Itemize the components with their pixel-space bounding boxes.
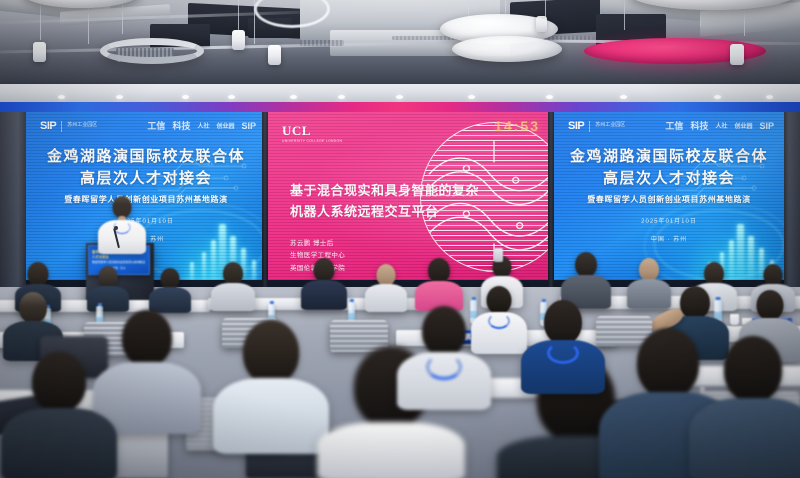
attendee-front-7 (520, 300, 606, 392)
sponsor-logo-0: 工信 (147, 119, 165, 132)
pendant-light-3 (452, 36, 562, 62)
sip-logo-right: SIP 苏州工业园区 (568, 120, 625, 132)
downlight-cylinder-3 (268, 45, 281, 65)
sip-logo-subtext-right: 苏州工业园区 (595, 123, 625, 129)
conference-room-scene: SIP 苏州工业园区 工信 科技 人社 创业园 SIP (0, 0, 800, 478)
attendee-front-9 (688, 336, 800, 478)
attendee-phone (494, 248, 503, 262)
sponsor-logo-r0: 工信 (665, 119, 683, 132)
attendee-back-3 (148, 268, 192, 310)
sponsor-logo-r2: 人社 (715, 121, 727, 130)
downlight-cylinder-2 (232, 30, 245, 50)
sip-logo-left: SIP 苏州工业园区 (40, 120, 97, 132)
sponsor-logos-left: 工信 科技 人社 创业园 SIP (147, 119, 256, 132)
downlight-cylinder-1 (33, 42, 46, 62)
sponsor-logo-r4: SIP (759, 121, 774, 131)
slide-title: 基于混合现实和具身智能的复杂 机器人系统远程交互平台 (290, 180, 520, 223)
attendee-back-7-pink (414, 258, 464, 310)
slide-title-line-1: 基于混合现实和具身智能的复杂 (290, 180, 520, 201)
attendee-back-2 (86, 266, 130, 310)
ucl-logo: UCL UNIVERSITY COLLEGE LONDON (282, 124, 342, 143)
right-wall-panel (784, 112, 800, 287)
attendee-back-4 (210, 262, 256, 308)
right-title-line-2: 高层次人才对接会 (554, 168, 784, 190)
attendee-back-6 (364, 264, 408, 310)
ceiling (0, 0, 800, 84)
ucl-logo-text: UCL (282, 124, 342, 137)
sponsor-logo-2: 人社 (197, 121, 209, 130)
center-presentation-screen: UCL UNIVERSITY COLLEGE LONDON 14:53 基于混合… (268, 112, 552, 280)
sip-logo-text-right: SIP (568, 120, 584, 132)
left-wall-panel (0, 112, 26, 287)
left-title-line-2: 高层次人才对接会 (26, 168, 266, 190)
speaker-head (113, 196, 132, 218)
attendee-front-8 (0, 352, 118, 478)
right-screen-title: 金鸡湖路演国际校友联合体 高层次人才对接会 (554, 146, 784, 190)
sponsor-logo-r1: 科技 (690, 119, 708, 132)
sponsor-logo-1: 科技 (172, 119, 190, 132)
left-title-line-1: 金鸡湖路演国际校友联合体 (26, 146, 266, 168)
presenter-name: 苏云鹏 博士后 (290, 238, 345, 250)
attendee-back-5 (300, 258, 348, 308)
attendee-front-6 (396, 306, 492, 406)
downlight-cylinder-5 (536, 16, 547, 32)
ceiling-soffit (0, 84, 800, 102)
slide-title-line-2: 机器人系统远程交互平台 (290, 201, 520, 222)
speaker-presenter (94, 196, 150, 252)
sponsor-logo-4: SIP (241, 121, 256, 131)
sponsor-logos-right: 工信 科技 人社 创业园 SIP (665, 119, 774, 132)
ucl-logo-tagline: UNIVERSITY COLLEGE LONDON (282, 139, 342, 143)
pendant-ring-light (100, 38, 204, 64)
podium-display-subtitle: 暨春晖留学人员创新创业项目苏州基地路演 (92, 260, 146, 264)
sponsor-logo-r3: 创业园 (734, 121, 752, 130)
downlight-cylinder-4 (730, 44, 744, 65)
slide-clock: 14:53 (494, 118, 540, 134)
left-screen-title: 金鸡湖路演国际校友联合体 高层次人才对接会 (26, 146, 266, 190)
sponsor-logo-3: 创业园 (216, 121, 234, 130)
sip-logo-subtext: 苏州工业园区 (67, 123, 97, 129)
microphone-head-icon (114, 226, 118, 230)
sip-logo-text: SIP (40, 120, 56, 132)
right-title-line-1: 金鸡湖路演国际校友联合体 (554, 146, 784, 168)
attendee-front-2-woman (212, 320, 330, 450)
